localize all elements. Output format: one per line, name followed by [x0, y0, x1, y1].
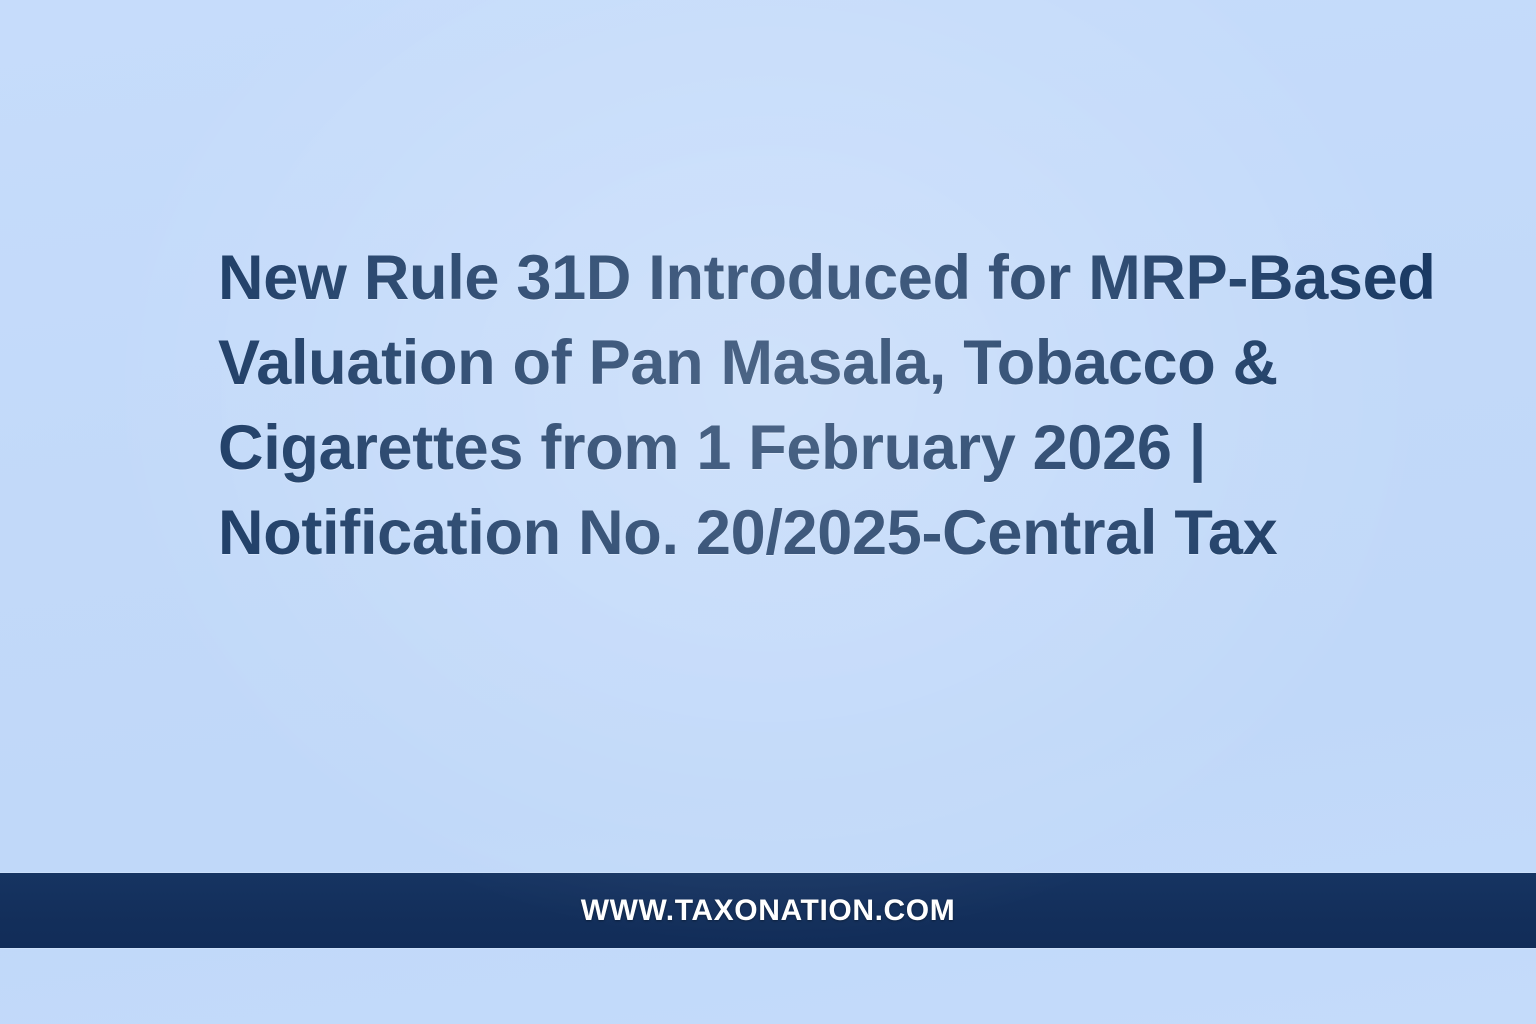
headline-block: New Rule 31D Introduced for MRP-Based Va…	[218, 236, 1338, 576]
footer-bar: WWW.TAXONATION.COM	[0, 873, 1536, 948]
notification-banner: New Rule 31D Introduced for MRP-Based Va…	[0, 0, 1536, 1024]
website-url-label[interactable]: WWW.TAXONATION.COM	[581, 894, 956, 928]
headline-line-3: Cigarettes from 1 February 2026 |	[218, 406, 1338, 491]
headline-line-4: Notification No. 20/2025-Central Tax	[218, 491, 1338, 576]
page-title: New Rule 31D Introduced for MRP-Based Va…	[218, 236, 1338, 576]
headline-line-2: Valuation of Pan Masala, Tobacco &	[218, 321, 1338, 406]
headline-line-1: New Rule 31D Introduced for MRP-Based	[218, 236, 1338, 321]
